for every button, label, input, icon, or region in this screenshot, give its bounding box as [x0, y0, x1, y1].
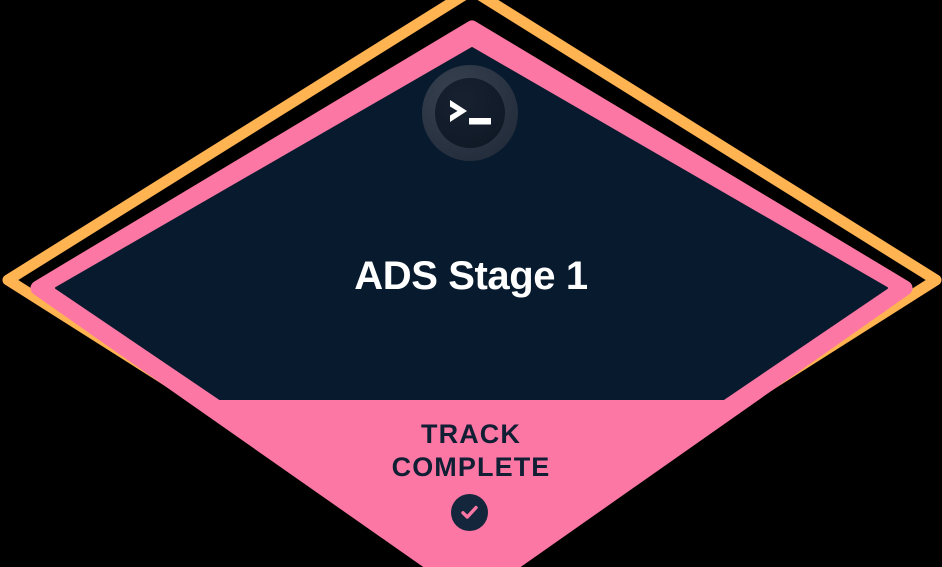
- check-mark-icon: [451, 494, 488, 531]
- terminal-glyph-icon: [445, 94, 495, 132]
- check-glyph-icon: [459, 502, 480, 523]
- badge-stage: ADS Stage 1 TRACK COMPLETE: [0, 0, 942, 567]
- terminal-icon-core: [435, 78, 505, 148]
- terminal-prompt-icon: [422, 65, 518, 161]
